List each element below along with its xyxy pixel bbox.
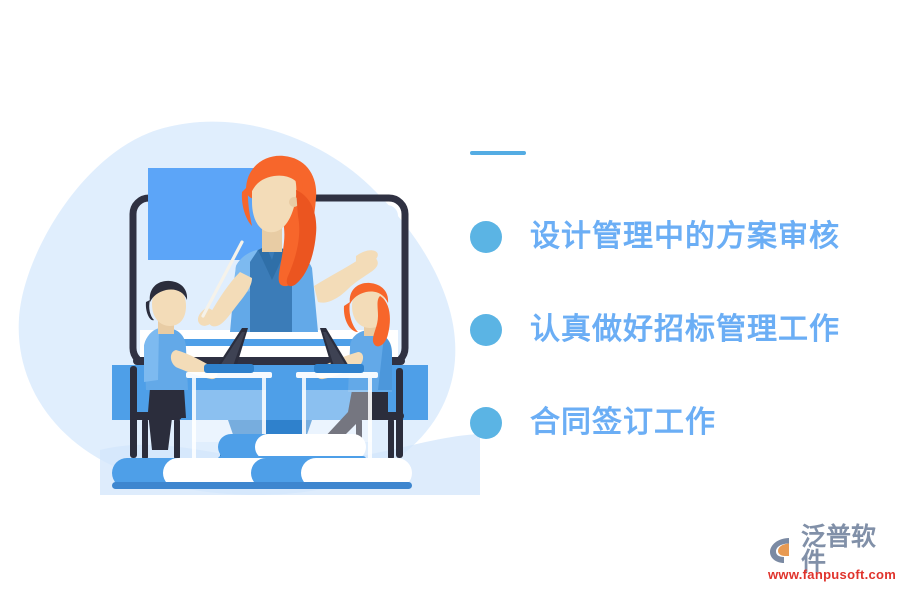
brand-row: 泛普软件 [768,533,890,567]
brand-url: www.fanpusoft.com [768,568,890,581]
book-lower [112,458,412,489]
book-upper [218,434,366,462]
poster-canvas: 设计管理中的方案审核 认真做好招标管理工作 合同签订工作 泛普软件 www.fa… [0,0,900,600]
feature-bullet-label: 合同签订工作 [530,408,716,438]
accent-rule [470,151,526,155]
feature-bullet-label: 认真做好招标管理工作 [530,315,840,345]
bullet-dot-icon [470,221,502,253]
online-class-illustration [100,150,480,495]
feature-bullet-label: 设计管理中的方案审核 [530,222,840,252]
fanpu-logo-icon [768,535,798,565]
brand-watermark: 泛普软件 www.fanpusoft.com [768,533,890,588]
feature-list-panel: 设计管理中的方案审核 认真做好招标管理工作 合同签订工作 [470,145,880,445]
feature-bullet-item-2[interactable]: 认真做好招标管理工作 [470,283,880,376]
feature-bullet-list: 设计管理中的方案审核 认真做好招标管理工作 合同签订工作 [470,190,880,469]
feature-bullet-item-3[interactable]: 合同签订工作 [470,376,880,469]
bullet-dot-icon [470,314,502,346]
bullet-dot-icon [470,407,502,439]
feature-bullet-item-1[interactable]: 设计管理中的方案审核 [470,190,880,283]
